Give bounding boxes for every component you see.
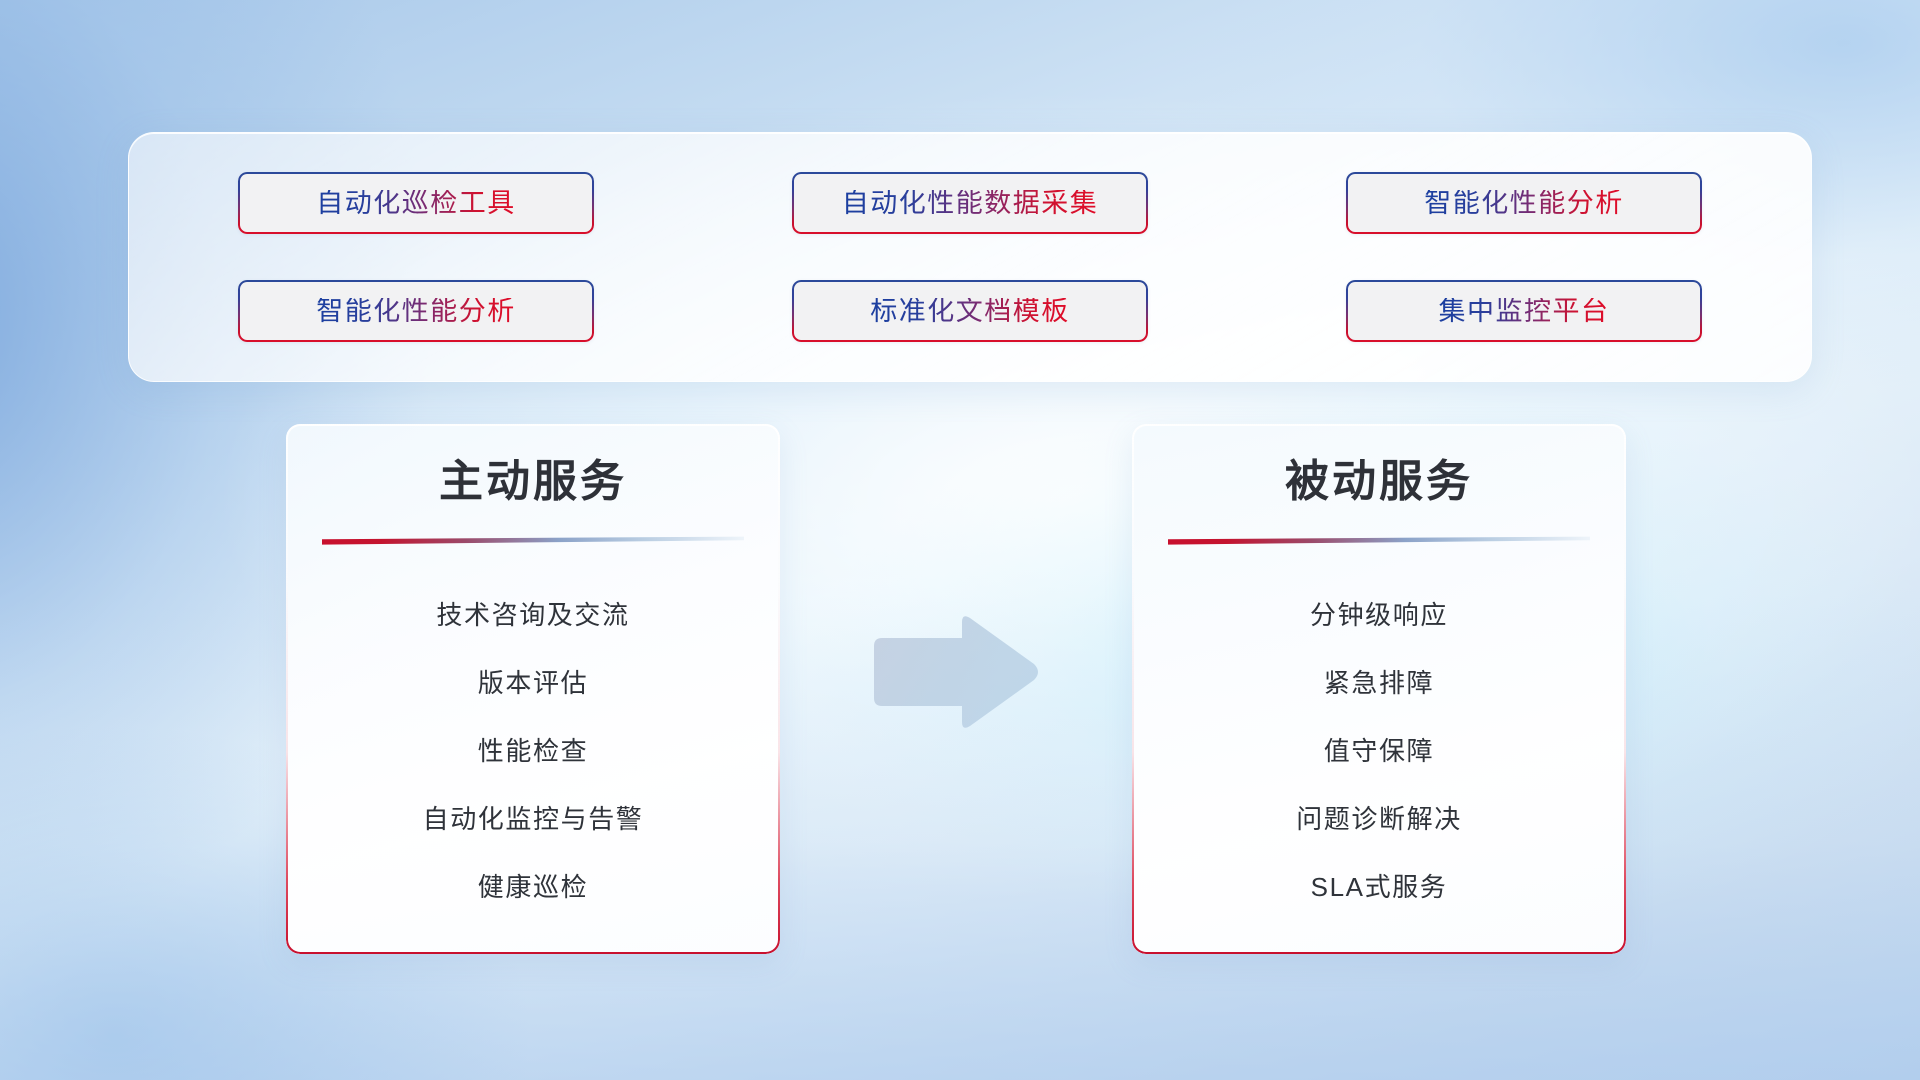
- capability-pill-label: 智能化性能分析: [1424, 190, 1624, 217]
- capability-pill-5[interactable]: 标准化文档模板: [792, 280, 1148, 342]
- capability-pill-3[interactable]: 智能化性能分析: [1346, 172, 1702, 234]
- capability-pill-label: 自动化性能数据采集: [842, 190, 1099, 217]
- capability-pill-label: 智能化性能分析: [316, 298, 516, 325]
- capability-pill-label: 自动化巡检工具: [316, 190, 516, 217]
- list-item[interactable]: 值守保障: [1132, 717, 1626, 785]
- card-title: 被动服务: [1132, 458, 1626, 506]
- capability-pill-2[interactable]: 自动化性能数据采集: [792, 172, 1148, 234]
- capability-pill-6[interactable]: 集中监控平台: [1346, 280, 1702, 342]
- capability-pill-4[interactable]: 智能化性能分析: [238, 280, 594, 342]
- card-item-list: 技术咨询及交流 版本评估 性能检查 自动化监控与告警 健康巡检: [286, 581, 780, 921]
- arrow-right-icon: [866, 612, 1042, 732]
- card-divider: [1168, 536, 1590, 545]
- capability-panel: 自动化巡检工具 自动化性能数据采集 智能化性能分析 智能化性能分析 标准化文档模…: [128, 132, 1812, 382]
- list-item[interactable]: 版本评估: [286, 649, 780, 717]
- list-item[interactable]: 自动化监控与告警: [286, 785, 780, 853]
- list-item[interactable]: SLA式服务: [1132, 853, 1626, 921]
- card-item-list: 分钟级响应 紧急排障 值守保障 问题诊断解决 SLA式服务: [1132, 581, 1626, 921]
- list-item[interactable]: 技术咨询及交流: [286, 581, 780, 649]
- list-item[interactable]: 分钟级响应: [1132, 581, 1626, 649]
- service-card-reactive: 被动服务 分钟级响应 紧急排障 值守保障 问题诊断解决 SLA式服务: [1132, 424, 1626, 954]
- list-item[interactable]: 健康巡检: [286, 853, 780, 921]
- card-title: 主动服务: [286, 458, 780, 506]
- capability-pill-label: 标准化文档模板: [870, 298, 1070, 325]
- list-item[interactable]: 性能检查: [286, 717, 780, 785]
- list-item[interactable]: 紧急排障: [1132, 649, 1626, 717]
- card-divider: [322, 536, 744, 545]
- capability-pill-label: 集中监控平台: [1439, 298, 1610, 325]
- capability-pill-1[interactable]: 自动化巡检工具: [238, 172, 594, 234]
- service-card-proactive: 主动服务 技术咨询及交流 版本评估 性能检查 自动化监控与告警 健康巡检: [286, 424, 780, 954]
- list-item[interactable]: 问题诊断解决: [1132, 785, 1626, 853]
